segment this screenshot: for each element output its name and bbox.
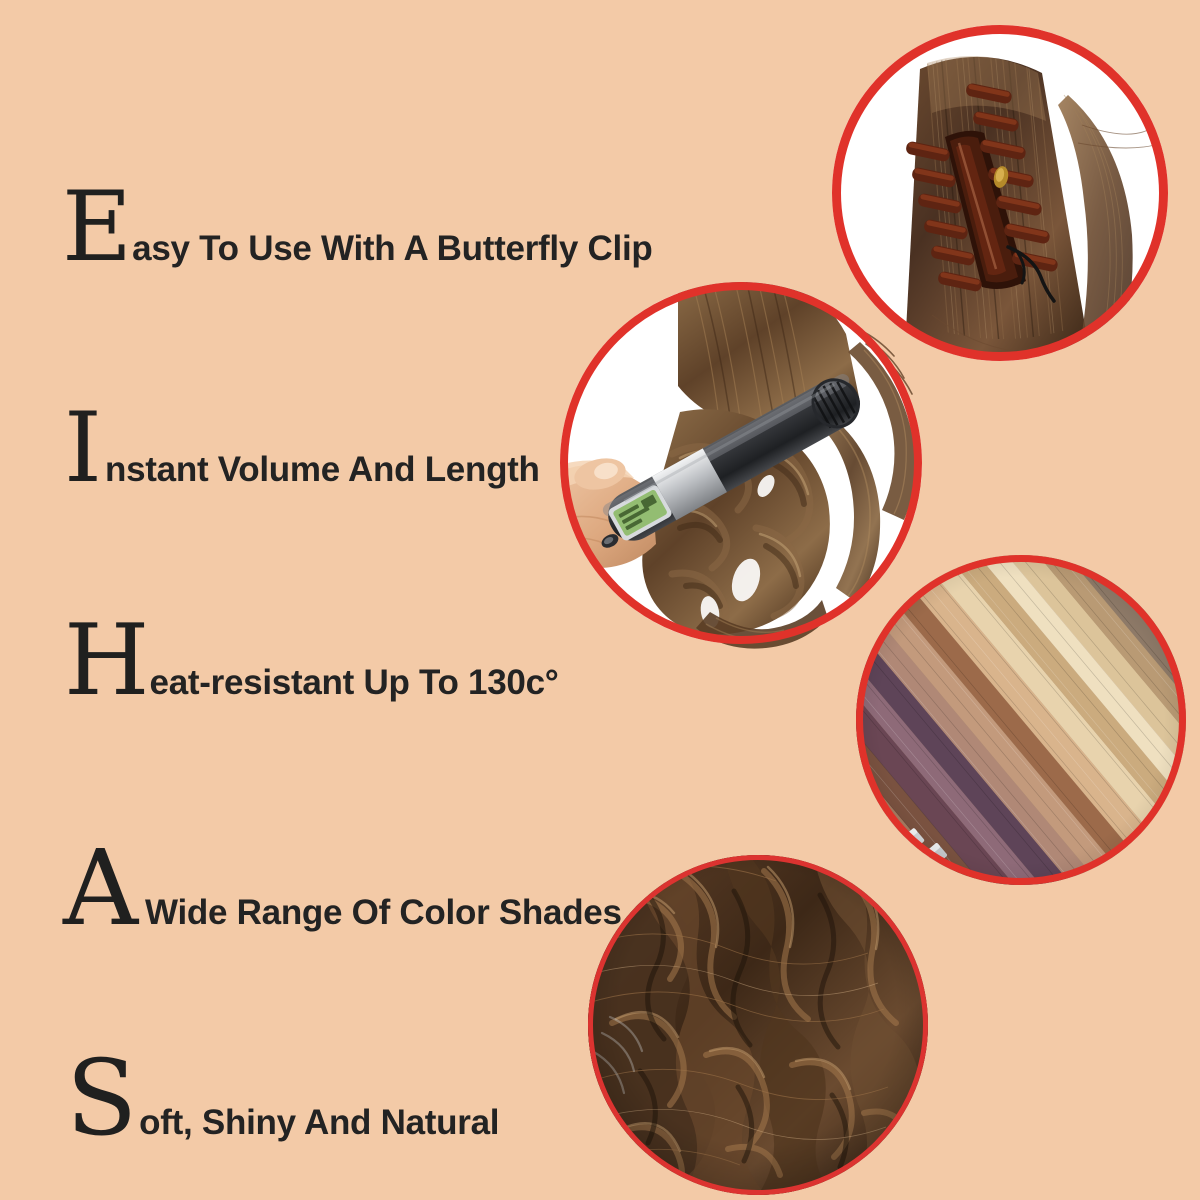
feature-label-instant-volume: nstant Volume And Length (105, 452, 540, 487)
feature-item-color-shades: A Wide Range Of Color Shades (63, 848, 622, 930)
feature-label-soft-shiny: oft, Shiny And Natural (139, 1105, 499, 1140)
feature-dropcap-i: I (64, 411, 100, 486)
feature-dropcap-a: A (63, 848, 136, 929)
feature-dropcap-h: H (64, 623, 148, 699)
curly-hair-photo (588, 855, 928, 1195)
feature-item-heat-resistant: H eat-resistant Up To 130c° (64, 623, 559, 700)
feature-item-soft-shiny: S oft, Shiny And Natural (66, 1058, 499, 1140)
feature-item-instant-volume: I nstant Volume And Length (64, 411, 540, 487)
feature-label-color-shades: Wide Range Of Color Shades (145, 895, 622, 930)
feature-item-easy-to-use: E asy To Use With A Butterfly Clip (62, 190, 652, 266)
feature-dropcap-s: S (66, 1058, 135, 1139)
feature-label-heat-resistant: eat-resistant Up To 130c° (150, 665, 559, 700)
curly-hair-illustration (588, 855, 928, 1195)
infographic-canvas: E asy To Use With A Butterfly Clip I nst… (0, 0, 1200, 1200)
feature-label-easy-to-use: asy To Use With A Butterfly Clip (132, 231, 652, 266)
flat-iron-photo (560, 282, 922, 644)
flat-iron-illustration (560, 282, 922, 644)
feature-dropcap-e: E (62, 190, 130, 265)
